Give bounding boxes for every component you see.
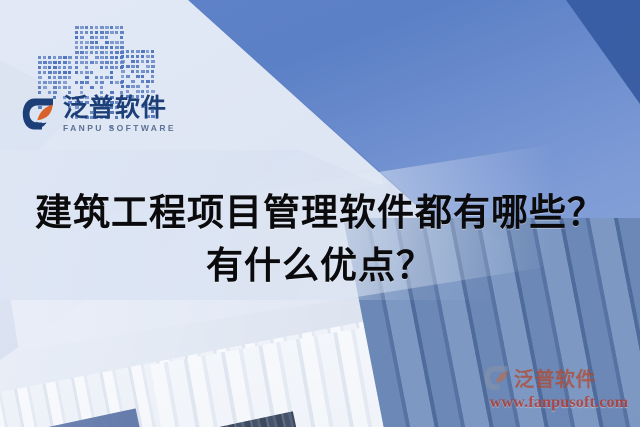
brand-logo: 泛普软件 FANPU SOFTWARE <box>22 95 176 133</box>
watermark: 泛普软件 www.fanpusoft.com <box>484 363 634 419</box>
watermark-name-cn: 泛普软件 <box>514 363 596 392</box>
page-title: 建筑工程项目管理软件都有哪些？ 有什么优点？ <box>0 186 640 292</box>
fanpu-hexagon-logo-icon <box>22 97 56 131</box>
pixel-skyline-graphic <box>38 22 148 94</box>
brand-name-en: FANPU SOFTWARE <box>63 124 176 133</box>
poster-banner: 泛普软件 FANPU SOFTWARE 建筑工程项目管理软件都有哪些？ 有什么优… <box>0 0 640 427</box>
watermark-url: www.fanpusoft.com <box>484 394 634 412</box>
brand-text: 泛普软件 FANPU SOFTWARE <box>63 95 176 133</box>
title-line-1: 建筑工程项目管理软件都有哪些？ <box>0 186 640 239</box>
brand-name-cn: 泛普软件 <box>63 95 176 120</box>
watermark-logo-row: 泛普软件 <box>484 363 634 392</box>
fanpu-hexagon-logo-icon <box>484 365 510 391</box>
title-line-2: 有什么优点？ <box>0 239 640 292</box>
